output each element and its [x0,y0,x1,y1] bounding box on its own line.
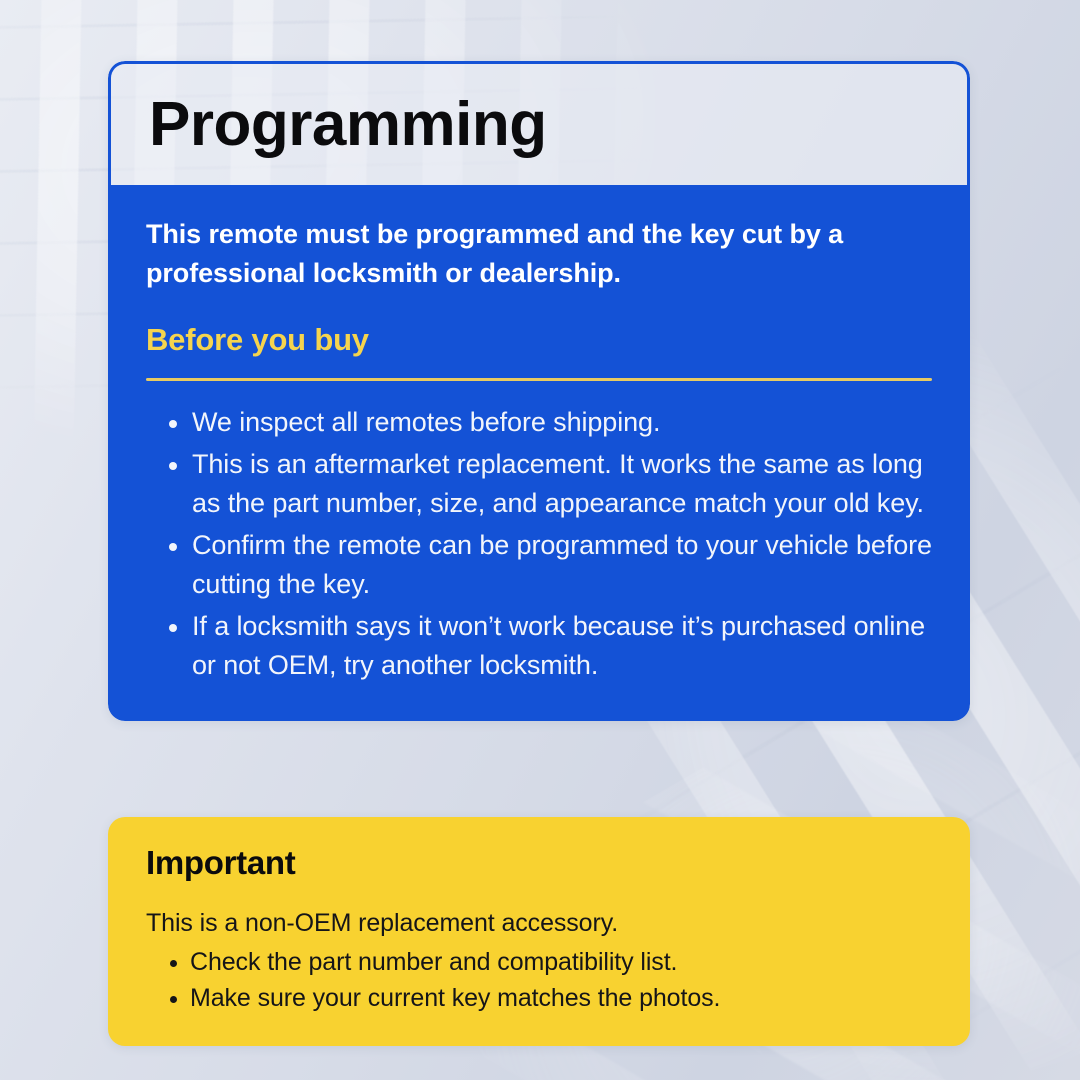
infographic-page: Programming This remote must be programm… [0,0,1080,1080]
important-heading: Important [146,843,932,883]
list-item: Check the part number and compatibility … [190,945,932,981]
important-list: Check the part number and compatibility … [146,945,932,1016]
programming-card: Programming This remote must be programm… [108,61,970,721]
page-title: Programming [111,94,547,156]
section-divider [146,378,932,381]
programming-card-header: Programming [108,61,970,185]
list-item: We inspect all remotes before shipping. [192,403,932,442]
list-item: Confirm the remote can be programmed to … [192,526,932,605]
before-you-buy-heading: Before you buy [146,321,932,358]
programming-card-body: This remote must be programmed and the k… [108,185,970,721]
programming-intro-text: This remote must be programmed and the k… [146,215,916,293]
list-item: If a locksmith says it won’t work becaus… [192,607,932,686]
list-item: Make sure your current key matches the p… [190,981,932,1017]
important-lead-text: This is a non-OEM replacement accessory. [146,907,932,940]
before-you-buy-list: We inspect all remotes before shipping. … [146,403,932,685]
list-item: This is an aftermarket replacement. It w… [192,445,932,524]
important-card: Important This is a non-OEM replacement … [108,817,970,1046]
